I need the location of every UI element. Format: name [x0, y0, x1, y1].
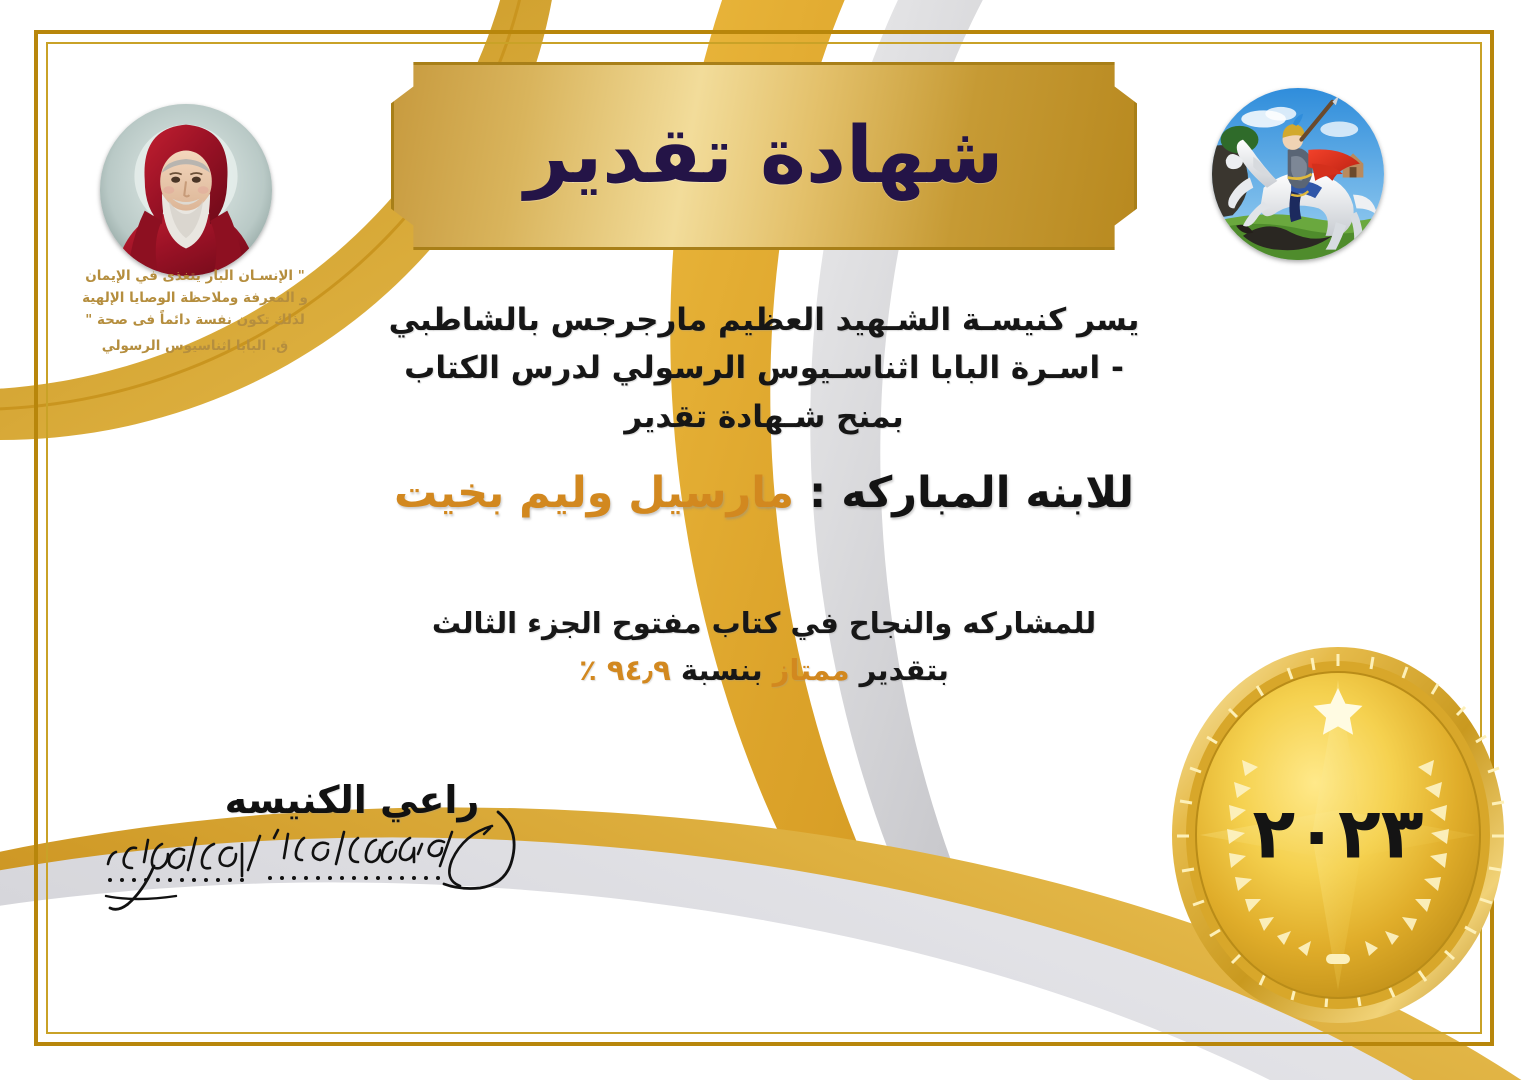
saint-george-dragon-icon [1212, 88, 1384, 260]
medal-year-text: ٢٠٢٣ [1168, 792, 1508, 874]
body-line-3: بمنح شـهادة تقدير [254, 393, 1274, 441]
year-medal: ٢٠٢٣ [1168, 640, 1508, 1030]
quote-line-1: " الإنسـان البار يتغذى في الإيمان [85, 268, 305, 284]
pope-athanasius-icon [100, 104, 272, 276]
grade-prefix: بتقدير [860, 653, 949, 687]
grade-value: ممتاز [773, 653, 850, 687]
title-banner: شهادة تقدير [391, 62, 1137, 250]
body-line-2: - اسـرة البابا اثناسـيوس الرسولي لدرس ال… [254, 344, 1274, 392]
percent-prefix: بنسبة [681, 653, 763, 687]
recipient-label: للابنه المباركه : [809, 468, 1134, 518]
certificate-body: يسر كنيسـة الشـهيد العظيم مارجرجس بالشاط… [0, 296, 1528, 441]
certificate-page: شهادة تقدير [0, 0, 1528, 1080]
certificate-title: شهادة تقدير [525, 117, 1004, 195]
saint-george-illustration [1212, 88, 1384, 260]
handwritten-signature [92, 808, 612, 928]
signature-block: راعي الكنيسه [92, 778, 612, 928]
recipient-name: مارسيل وليم بخيت [394, 468, 794, 518]
body-line-1: يسر كنيسـة الشـهيد العظيم مارجرجس بالشاط… [254, 296, 1274, 344]
pope-athanasius-illustration [100, 104, 272, 276]
percent-value: ٩٤٫٩ ٪ [579, 653, 671, 687]
recipient-line: للابنه المباركه : مارسيل وليم بخيت [0, 468, 1528, 520]
